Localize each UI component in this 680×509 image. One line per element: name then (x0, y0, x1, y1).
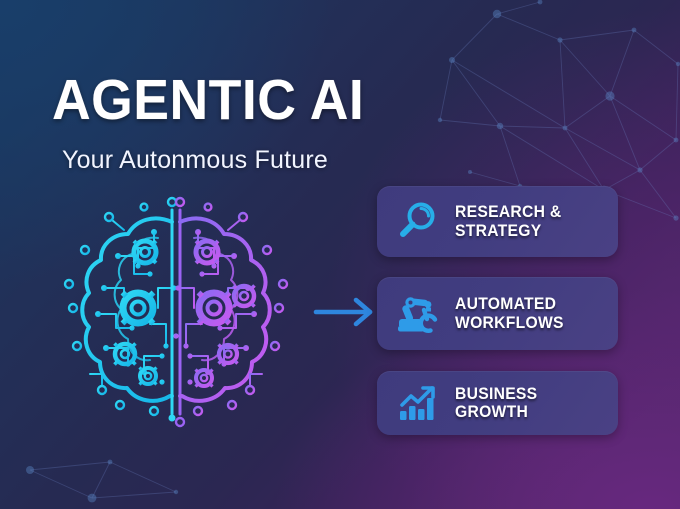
page-subtitle: Your Autonmous Future (62, 148, 328, 173)
ai-brain-circuit-icon (58, 196, 294, 428)
right-arrow-icon (313, 296, 377, 328)
growth-bar-chart-icon (391, 378, 445, 428)
feature-card-automated-workflows[interactable]: AUTOMATED WORKFLOWS (377, 277, 618, 350)
feature-card-business-growth[interactable]: BUSINESS GROWTH (377, 371, 618, 435)
poster-canvas: AGENTIC AI Your Autonmous Future (0, 0, 680, 509)
feature-card-label: RESEARCH & STRATEGY (455, 203, 562, 240)
page-title: AGENTIC AI (52, 72, 364, 129)
feature-card-label: AUTOMATED WORKFLOWS (455, 295, 564, 332)
feature-card-label: BUSINESS GROWTH (455, 385, 598, 422)
robot-arm-wrench-icon (391, 289, 445, 339)
feature-card-research-strategy[interactable]: RESEARCH & STRATEGY (377, 186, 618, 257)
magnifying-glass-icon (391, 197, 445, 247)
